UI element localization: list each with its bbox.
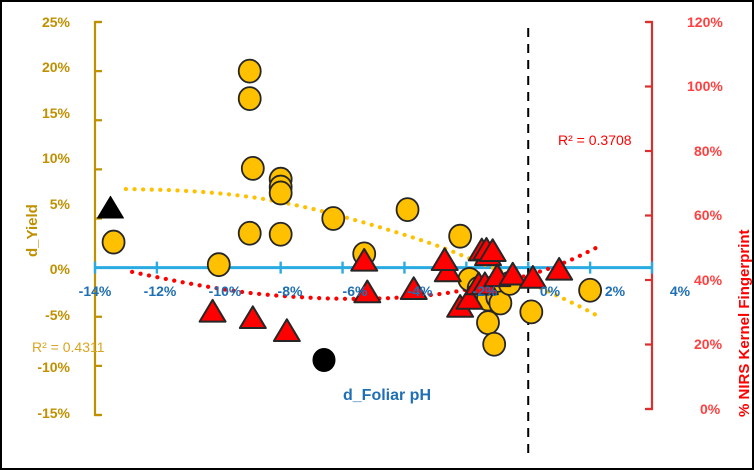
xtick-9: 4% (650, 283, 710, 299)
data-point-outlier-black-triangle-0[interactable] (97, 196, 123, 218)
data-point-%-nirs-kernel-fingerprint-2[interactable] (274, 319, 300, 341)
data-point-d-yield-5[interactable] (239, 222, 261, 245)
ytick-left-0: 25% (10, 14, 70, 30)
r2-yield-annotation: R² = 0.4311 (32, 339, 105, 355)
ytick-left-3: 10% (10, 150, 70, 166)
ytick-right-2: 80% (694, 143, 722, 159)
data-point-d-yield-23[interactable] (483, 333, 505, 356)
data-point-d-yield-1[interactable] (208, 253, 230, 276)
ytick-left-8: -15% (10, 405, 70, 421)
data-point-d-yield-2[interactable] (239, 60, 261, 83)
data-point-%-nirs-kernel-fingerprint-0[interactable] (200, 300, 226, 322)
y-axis-right-title: % NIRS Kernel Fingerprint (736, 229, 753, 417)
y-axis-left-title: d_Yield (24, 204, 41, 257)
xtick-0: -14% (65, 283, 125, 299)
chart-figure: 25% 20% 15% 10% 5% 0% -5% -10% -15% 120%… (0, 0, 754, 470)
ytick-left-1: 20% (10, 59, 70, 75)
data-point-d-yield-9[interactable] (270, 223, 292, 246)
xtick-5: -4% (390, 283, 450, 299)
data-point-%-nirs-kernel-fingerprint-1[interactable] (240, 306, 266, 328)
ytick-right-5: 20% (694, 336, 722, 352)
xtick-2: -10% (195, 283, 255, 299)
ytick-right-6: 0% (700, 401, 720, 417)
ytick-right-1: 100% (687, 78, 723, 94)
ytick-left-5: 0% (10, 261, 70, 277)
xtick-8: 2% (585, 283, 645, 299)
ytick-left-7: -10% (10, 359, 70, 375)
x-axis-title: d_Foliar pH (343, 387, 431, 405)
data-point-d-yield-24[interactable] (520, 300, 542, 323)
xtick-1: -12% (130, 283, 190, 299)
data-point-d-yield-10[interactable] (322, 207, 344, 230)
data-point-d-yield-13[interactable] (449, 225, 471, 248)
xtick-7: 0% (520, 283, 580, 299)
data-point-d-yield-12[interactable] (397, 198, 419, 221)
data-point-d-yield-4[interactable] (242, 157, 264, 180)
data-point-d-yield-22[interactable] (477, 311, 499, 334)
ytick-left-2: 15% (10, 105, 70, 121)
data-point-d-yield-3[interactable] (239, 87, 261, 110)
ytick-right-3: 60% (694, 207, 722, 223)
data-point-d-yield-0[interactable] (103, 231, 125, 254)
data-point-outlier-black-circle-0[interactable] (313, 348, 335, 371)
ytick-left-6: -5% (10, 307, 70, 323)
xtick-3: -8% (260, 283, 320, 299)
r2-nirs-annotation: R² = 0.3708 (558, 132, 632, 148)
xtick-4: -6% (325, 283, 385, 299)
data-point-d-yield-8[interactable] (270, 181, 292, 204)
ytick-right-0: 120% (687, 14, 723, 30)
xtick-6: -2% (455, 283, 515, 299)
